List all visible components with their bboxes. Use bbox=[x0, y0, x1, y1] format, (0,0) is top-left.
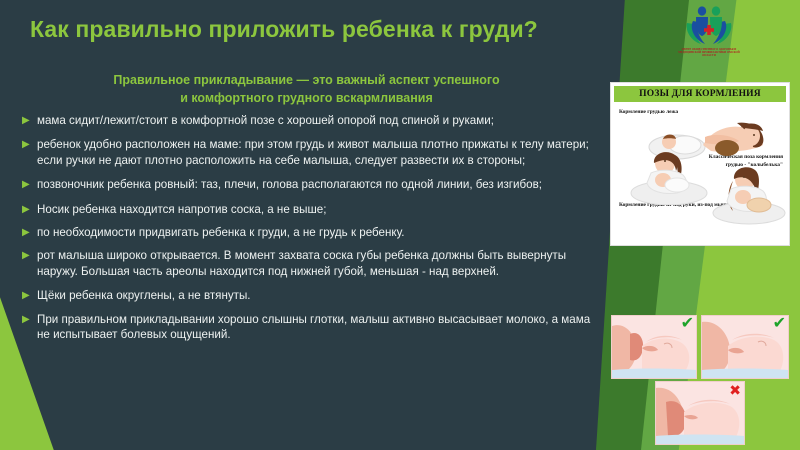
feeding-positions-poster: ПОЗЫ ДЛЯ КОРМЛЕНИЯ Кормление грудью лежа… bbox=[610, 82, 790, 246]
list-item: ▶ мама сидит/лежит/стоит в комфортной по… bbox=[22, 113, 592, 128]
list-item: ▶ позвоночник ребенка ровный: таз, плечи… bbox=[22, 177, 592, 192]
list-item: ▶ рот малыша широко открывается. В момен… bbox=[22, 248, 592, 279]
list-item-text: позвоночник ребенка ровный: таз, плечи, … bbox=[37, 177, 542, 192]
triangle-bullet-icon: ▶ bbox=[22, 251, 37, 261]
list-item-text: При правильном прикладывании хорошо слыш… bbox=[37, 312, 592, 343]
logo-emblem-icon bbox=[683, 3, 735, 47]
logo-caption: ЦЕНТР ОБЩЕСТВЕННОГО ЗДОРОВЬЯ И МЕДИЦИНСК… bbox=[678, 48, 740, 58]
page-title: Как правильно приложить ребенка к груди? bbox=[30, 16, 538, 43]
slide-subtitle: Правильное прикладывание — это важный ас… bbox=[34, 72, 579, 108]
triangle-bullet-icon: ▶ bbox=[22, 291, 37, 301]
triangle-bullet-icon: ▶ bbox=[22, 205, 37, 215]
list-item: ▶ ребенок удобно расположен на маме: при… bbox=[22, 137, 592, 168]
health-center-logo: ЦЕНТР ОБЩЕСТВЕННОГО ЗДОРОВЬЯ И МЕДИЦИНСК… bbox=[678, 3, 740, 65]
latch-incorrect: ✖ bbox=[655, 381, 745, 445]
list-item-text: Носик ребенка находится напротив соска, … bbox=[37, 202, 326, 217]
checkmark-icon: ✔ bbox=[773, 316, 786, 332]
list-item: ▶ Носик ребенка находится напротив соска… bbox=[22, 202, 592, 217]
list-item-text: по необходимости придвигать ребенка к гр… bbox=[37, 225, 404, 240]
slide-root: Как правильно приложить ребенка к груди?… bbox=[0, 0, 800, 450]
latch-correct-2: ✔ bbox=[701, 315, 789, 379]
poster-heading-text: ПОЗЫ ДЛЯ КОРМЛЕНИЯ bbox=[639, 89, 761, 99]
list-item-text: рот малыша широко открывается. В момент … bbox=[37, 248, 592, 279]
poster-heading-bar: ПОЗЫ ДЛЯ КОРМЛЕНИЯ bbox=[614, 86, 786, 102]
latch-correct-1: ✔ bbox=[611, 315, 697, 379]
list-item: ▶ по необходимости придвигать ребенка к … bbox=[22, 225, 592, 240]
bullet-list: ▶ мама сидит/лежит/стоит в комфортной по… bbox=[22, 113, 592, 351]
triangle-bullet-icon: ▶ bbox=[22, 228, 37, 238]
subtitle-line-2: и комфортного грудного вскармливания bbox=[34, 90, 579, 108]
triangle-bullet-icon: ▶ bbox=[22, 315, 37, 325]
slide-header: Как правильно приложить ребенка к груди?… bbox=[0, 0, 800, 60]
triangle-bullet-icon: ▶ bbox=[22, 116, 37, 126]
illustration-football-position bbox=[703, 163, 789, 225]
triangle-bullet-icon: ▶ bbox=[22, 180, 37, 190]
list-item-text: Щёки ребенка округлены, а не втянуты. bbox=[37, 288, 251, 303]
latch-comparison-images: ✔ ✔ ✖ bbox=[611, 315, 787, 443]
list-item-text: мама сидит/лежит/стоит в комфортной позе… bbox=[37, 113, 494, 128]
list-item: ▶ При правильном прикладывании хорошо сл… bbox=[22, 312, 592, 343]
list-item: ▶ Щёки ребенка округлены, а не втянуты. bbox=[22, 288, 592, 303]
cross-icon: ✖ bbox=[729, 383, 741, 397]
subtitle-line-1: Правильное прикладывание — это важный ас… bbox=[34, 72, 579, 90]
poster-illustrations: Кормление грудью лежа Классическая поза … bbox=[611, 105, 789, 246]
checkmark-icon: ✔ bbox=[681, 316, 694, 332]
list-item-text: ребенок удобно расположен на маме: при э… bbox=[37, 137, 592, 168]
triangle-bullet-icon: ▶ bbox=[22, 140, 37, 150]
